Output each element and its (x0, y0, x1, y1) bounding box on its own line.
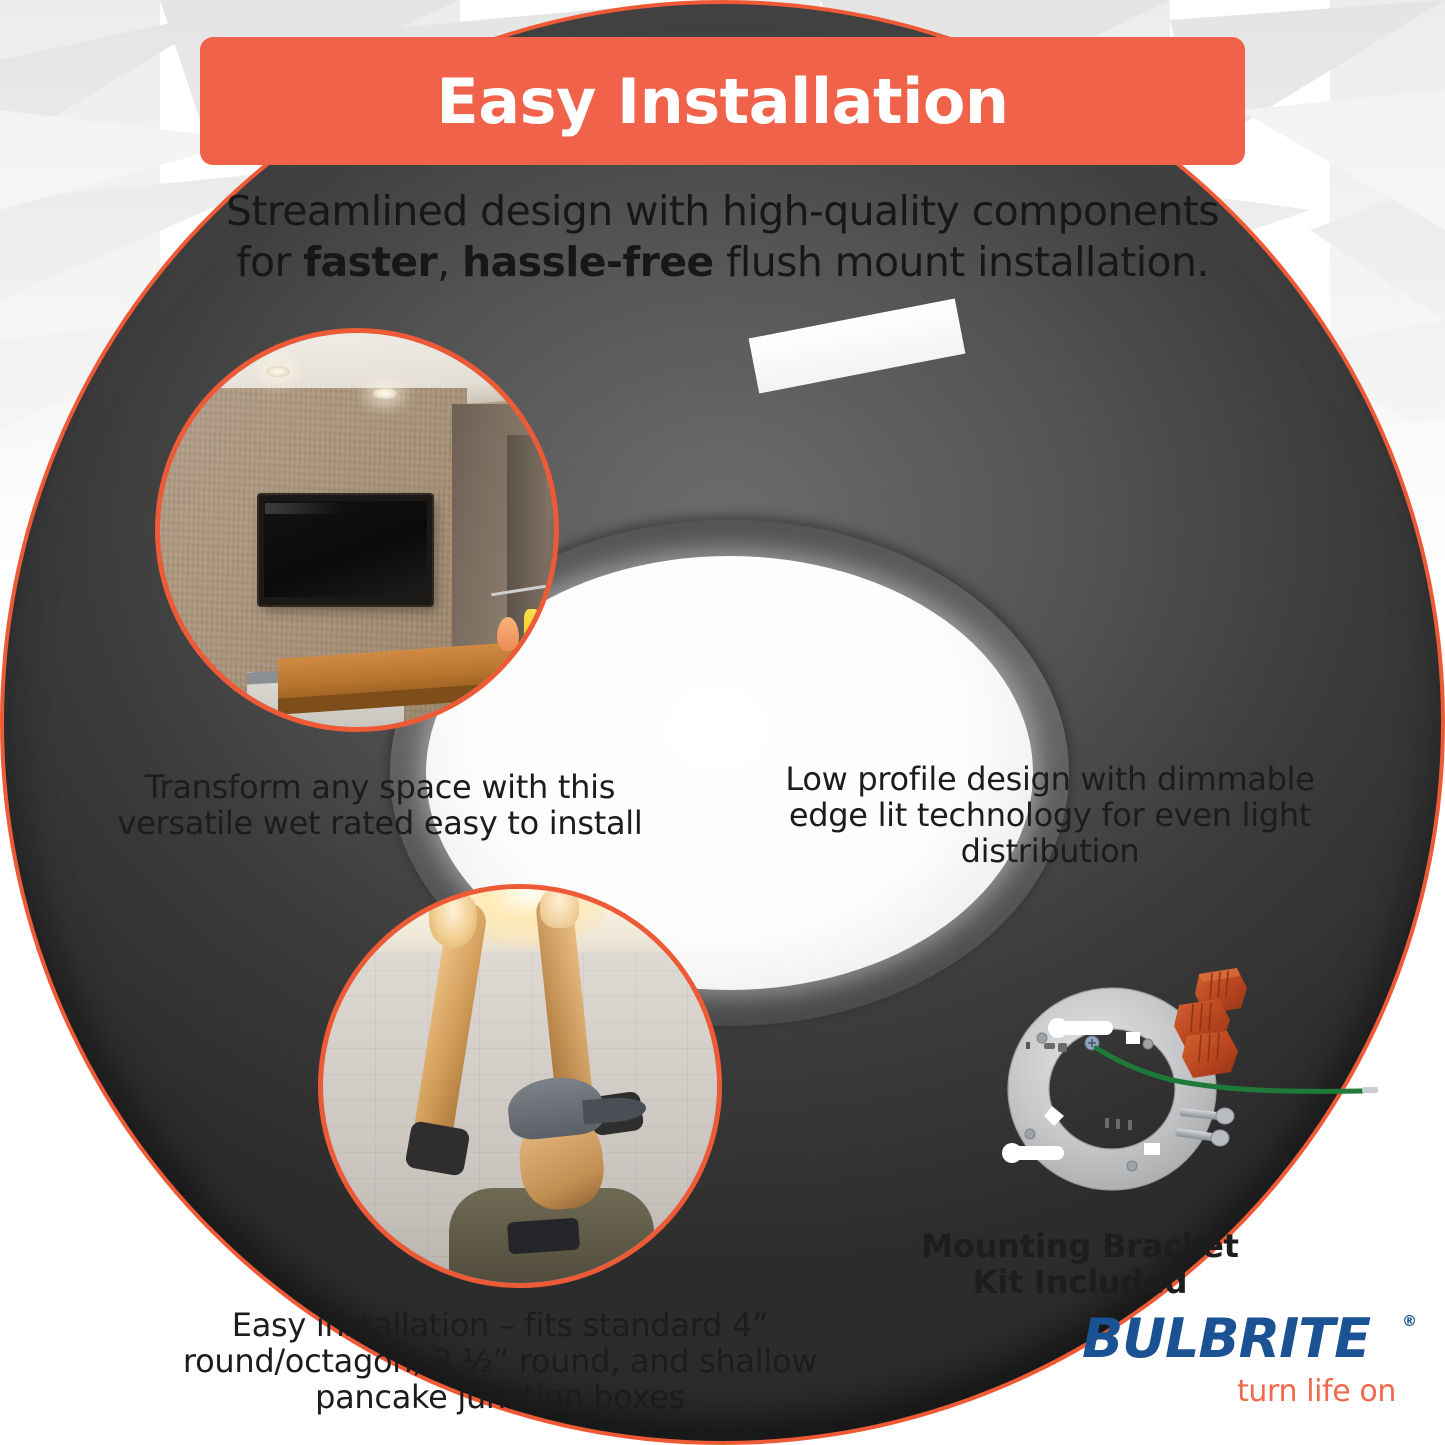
bulbrite-logo: BULBRITE® turn life on (1082, 1312, 1402, 1412)
installer-collar (507, 1218, 580, 1254)
subtitle-line-1: Streamlined design with high-quality com… (150, 186, 1295, 237)
room-orange-vase (497, 617, 519, 651)
room-yellow-vase (524, 609, 540, 645)
brand-tagline: turn life on (1082, 1374, 1402, 1409)
tv-recess-frame (259, 495, 432, 605)
installer-right-hand (540, 889, 579, 928)
subtitle-bold-faster: faster (303, 238, 437, 286)
photo-circle-installer (318, 884, 722, 1288)
room-scene-illustration (160, 333, 554, 727)
subtitle-post: flush mount installation. (714, 238, 1209, 286)
subtitle-pre: for (236, 238, 303, 286)
subtitle-mid: , (437, 238, 462, 286)
tv-screen (264, 501, 427, 597)
registered-trademark-icon: ® (1402, 1314, 1416, 1329)
caption-room: Transform any space with this versatile … (100, 770, 660, 842)
mounting-bracket-image (900, 958, 1380, 1220)
tv-screen-glare (265, 503, 343, 514)
caption-fixture: Low profile design with dimmable edge li… (757, 762, 1343, 869)
bracket-label-line-1: Mounting Bracket (880, 1228, 1280, 1264)
page-title: Easy Installation (436, 65, 1008, 138)
subtitle-bold-hassle-free: hassle-free (462, 238, 714, 286)
brand-wordmark: BULBRITE® (1082, 1312, 1402, 1366)
ground-wire-tip (1362, 1087, 1378, 1093)
photo-circle-room (155, 328, 559, 732)
recessed-downlight-2-icon (373, 388, 397, 399)
bracket-label-line-2: Kit Included (880, 1264, 1280, 1300)
header-banner: Easy Installation (200, 37, 1245, 165)
installer-scene-illustration (323, 889, 717, 1283)
bracket-kit-label: Mounting Bracket Kit Included (880, 1228, 1280, 1300)
subtitle-line-2: for faster, hassle-free flush mount inst… (150, 237, 1295, 288)
wire-nut-3 (1182, 1031, 1238, 1078)
subtitle: Streamlined design with high-quality com… (150, 186, 1295, 288)
brand-name: BULBRITE (1082, 1307, 1370, 1370)
installer-left-hand (429, 893, 476, 948)
caption-installer: Easy installation – fits standard 4” rou… (180, 1308, 820, 1415)
